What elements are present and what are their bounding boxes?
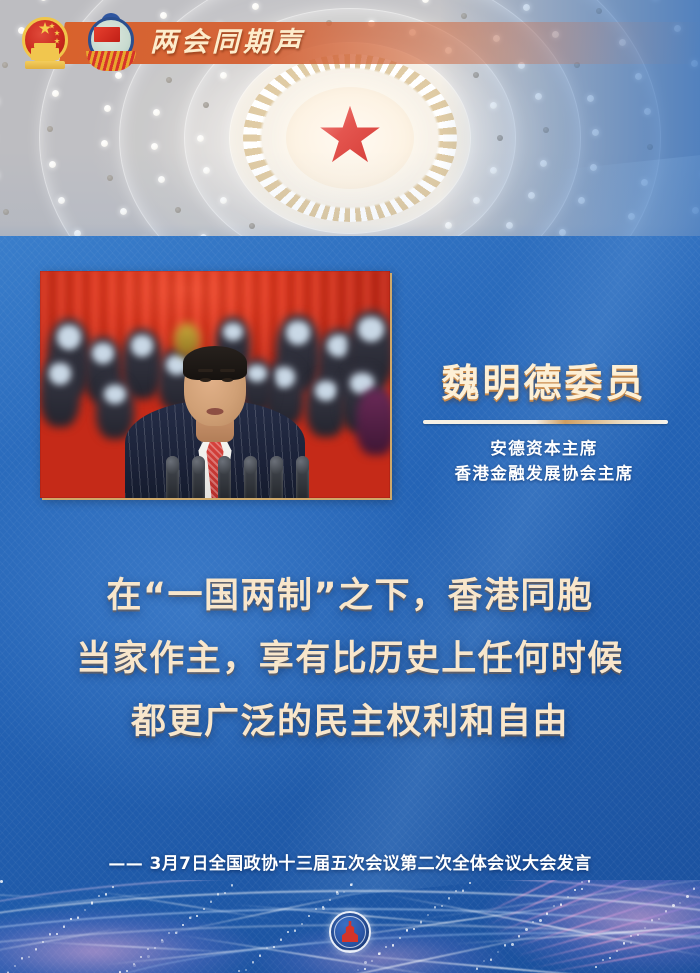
sparkle — [371, 960, 373, 962]
sparkle — [441, 905, 443, 907]
sparkle — [196, 915, 198, 917]
sparkle — [70, 918, 72, 920]
sparkle — [434, 906, 436, 908]
sparkle — [154, 947, 156, 949]
speaker-eye — [222, 378, 233, 382]
speaker-brow — [220, 369, 235, 372]
sparkle — [679, 902, 681, 904]
sparkle — [609, 957, 611, 959]
audience-figure — [356, 389, 390, 455]
sparkle — [49, 933, 51, 935]
ceiling-light-dot — [203, 102, 209, 108]
sparkle — [252, 961, 254, 963]
audience-face-mask — [358, 317, 384, 342]
sparkle — [504, 944, 506, 946]
quote-line-2: 当家作主，享有比历史上任何时候 — [0, 628, 700, 691]
sparkle — [588, 880, 590, 882]
sparkle — [420, 920, 422, 922]
microphone-icon — [296, 456, 309, 498]
sparkle — [630, 942, 632, 944]
sparkle — [63, 925, 65, 927]
sparkle — [427, 914, 429, 916]
sparkle — [686, 895, 689, 898]
sparkle — [245, 969, 247, 971]
sparkle — [616, 950, 618, 952]
speaker-photo — [40, 271, 390, 498]
sparkle — [168, 932, 170, 934]
sparkle — [364, 961, 367, 964]
audience-face-mask — [57, 325, 81, 350]
sparkle — [322, 906, 324, 908]
microphone-icon — [270, 456, 283, 498]
sparkle — [56, 933, 58, 935]
quote-line-1: 在“一国两制”之下，香港同胞 — [0, 565, 700, 628]
audience-face-mask — [104, 385, 125, 404]
blue-sheen — [86, 136, 700, 916]
sparkle — [630, 935, 632, 937]
sparkle — [231, 884, 233, 886]
sparkle — [336, 891, 338, 893]
quote-line-3: 都更广泛的民主权利和自由 — [0, 691, 700, 754]
speaker-brow — [198, 369, 213, 372]
speaker-title-2: 香港金融发展协会主席 — [403, 461, 685, 486]
sparkle — [581, 881, 583, 883]
source-caption: —— 3月7日全国政协十三届五次会议第二次全体会议大会发言 — [0, 849, 700, 874]
sparkle — [301, 923, 303, 925]
sparkle — [182, 924, 184, 926]
sparkle — [392, 944, 394, 946]
speaker-titles: 安德资本主席 香港金融发展协会主席 — [403, 436, 685, 486]
sparkle — [350, 883, 353, 886]
sparkle — [672, 904, 675, 907]
sparkle — [28, 956, 30, 958]
sparkle — [567, 896, 569, 898]
ceiling-light-dot — [101, 140, 108, 147]
ceiling-light-dot — [104, 105, 111, 112]
sparkle — [651, 919, 653, 921]
speaker-name: 魏明德委员 — [413, 352, 675, 407]
microphone-icon — [244, 456, 257, 498]
sparkle — [553, 905, 555, 907]
sparkle — [126, 970, 128, 972]
sparkle — [140, 956, 142, 958]
sparkle — [574, 889, 576, 891]
sparkle — [539, 919, 542, 922]
sparkle — [357, 969, 359, 971]
sparkle — [546, 912, 548, 914]
sparkle — [210, 900, 212, 902]
emblem-rays — [86, 51, 136, 71]
header-banner: 两会同期声 — [0, 0, 700, 86]
sparkle — [273, 946, 275, 948]
poster-root: 两会同期声 — [0, 0, 700, 973]
sparkle — [378, 952, 381, 955]
sparkle — [14, 965, 16, 967]
sparkle — [343, 891, 345, 893]
sparkle — [42, 941, 44, 943]
sparkle — [329, 899, 331, 901]
audience-face-mask — [92, 343, 113, 364]
national-emblem-icon — [16, 13, 74, 73]
sparkle — [497, 951, 499, 953]
sparkle — [462, 889, 464, 891]
sparkle — [469, 882, 471, 884]
sparkle — [399, 937, 401, 939]
sparkle — [189, 916, 192, 919]
sparkle — [406, 929, 408, 931]
speaker-hair — [183, 346, 247, 380]
audience-face-mask — [223, 323, 242, 341]
speaker-eye — [200, 378, 211, 382]
sparkle — [175, 931, 178, 934]
sparkle — [259, 954, 261, 956]
emblem-base — [25, 61, 65, 69]
sparkle — [287, 931, 289, 933]
sparkle — [658, 918, 660, 920]
speaker-mouth — [207, 408, 224, 415]
sparkle — [413, 928, 415, 930]
sparkle — [147, 955, 150, 958]
sparkle — [84, 909, 86, 911]
sparkle — [105, 893, 107, 895]
emblem-flag-icon — [94, 27, 120, 42]
sparkle — [217, 893, 219, 895]
sparkle — [308, 915, 310, 917]
sparkle — [490, 958, 492, 960]
sparkle — [364, 968, 366, 970]
sparkle — [637, 934, 639, 936]
sparkle — [133, 963, 135, 965]
sparkle — [455, 890, 457, 892]
name-divider — [423, 420, 668, 424]
cppcc-emblem-icon — [82, 13, 140, 73]
sparkle — [21, 957, 23, 959]
emblem-tiananmen-icon — [31, 48, 59, 60]
sparkle — [98, 895, 100, 897]
sparkle — [385, 946, 387, 948]
quote-block: 在“一国两制”之下，香港同胞 当家作主，享有比历史上任何时候 都更广泛的民主权利… — [0, 565, 700, 754]
sparkle — [266, 947, 268, 949]
sparkle — [483, 960, 485, 962]
ceiling-light-dot — [153, 109, 160, 116]
sparkle — [280, 938, 282, 940]
ceiling-light-dot — [52, 90, 59, 97]
sparkle — [161, 939, 163, 941]
sparkle — [0, 880, 3, 883]
sparkle — [77, 916, 79, 918]
microphone-icon — [192, 456, 205, 498]
microphone-icon — [218, 456, 231, 498]
sparkle — [644, 927, 646, 929]
sparkle — [238, 970, 240, 972]
ceiling-light-dot — [47, 126, 53, 132]
sparkle — [595, 966, 597, 968]
sparkle — [294, 929, 296, 931]
sparkle — [693, 887, 695, 889]
sparkle — [315, 908, 317, 910]
logo-arc — [337, 943, 363, 952]
ceiling-light-dot — [197, 135, 204, 142]
cns-logo-icon — [329, 911, 371, 953]
sparkle — [602, 959, 604, 961]
ceiling-light-dot — [151, 143, 158, 150]
audience-face-mask — [315, 381, 337, 401]
sparkle — [581, 888, 583, 890]
sparkle — [224, 892, 226, 894]
banner-title: 两会同期声 — [150, 20, 305, 59]
sparkle — [203, 908, 205, 910]
microphone-icon — [166, 456, 179, 498]
sparkle — [476, 967, 478, 969]
sparkle — [532, 921, 534, 923]
sparkle — [511, 943, 514, 946]
sparkle — [525, 928, 528, 931]
speaker-title-1: 安德资本主席 — [403, 436, 685, 461]
sparkle — [35, 948, 37, 950]
sparkle — [518, 935, 520, 937]
sparkle — [147, 948, 149, 950]
sparkle — [112, 886, 114, 888]
sparkle — [448, 897, 450, 899]
sparkle — [91, 901, 93, 903]
sparkle — [623, 942, 625, 944]
sparkle — [560, 903, 562, 905]
sparkle — [665, 910, 667, 912]
audience-face-mask — [247, 365, 266, 382]
